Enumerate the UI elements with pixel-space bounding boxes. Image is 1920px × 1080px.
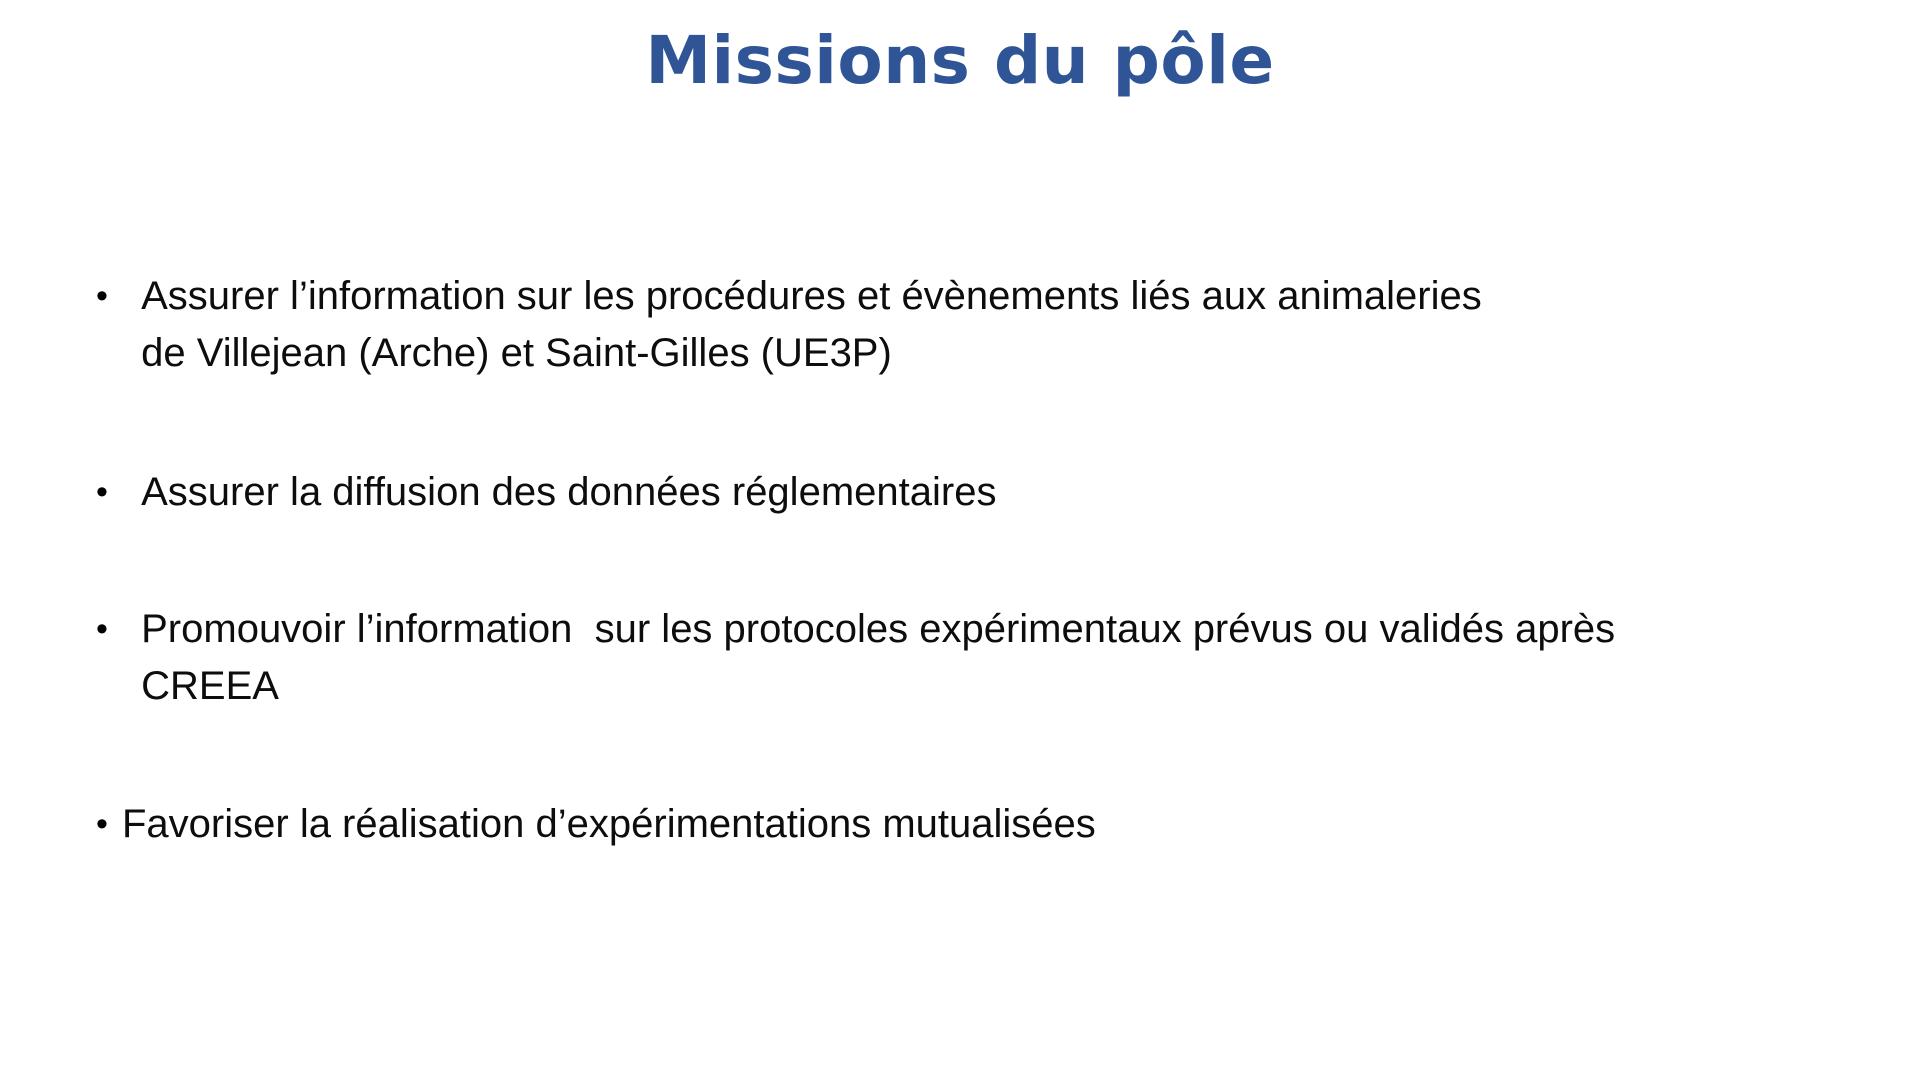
bullet-point-icon: •	[96, 464, 130, 521]
bullet-text-experimentations-mutualisees: Favoriser la réalisation d’expérimentati…	[122, 796, 1886, 853]
presentation-slide: Missions du pôle • Assurer l’information…	[0, 0, 1920, 1080]
bullet-text-promouvoir-protocoles: Promouvoir l’information sur les protoco…	[130, 601, 1886, 715]
slide-title: Missions du pôle	[0, 22, 1920, 100]
list-item[interactable]: • Promouvoir l’information sur les proto…	[96, 601, 1886, 715]
list-item[interactable]: • Assurer la diffusion des données régle…	[96, 464, 1886, 521]
bullet-text-diffusion-donnees: Assurer la diffusion des données régleme…	[130, 464, 1886, 521]
bullet-point-icon: •	[96, 796, 122, 853]
list-item[interactable]: • Assurer l’information sur les procédur…	[96, 268, 1886, 382]
bullet-point-icon: •	[96, 268, 130, 325]
bullet-text-information-animaleries: Assurer l’information sur les procédures…	[130, 268, 1886, 382]
list-item[interactable]: • Favoriser la réalisation d’expérimenta…	[96, 796, 1886, 853]
bullet-list: • Assurer l’information sur les procédur…	[96, 268, 1886, 853]
bullet-point-icon: •	[96, 601, 130, 658]
